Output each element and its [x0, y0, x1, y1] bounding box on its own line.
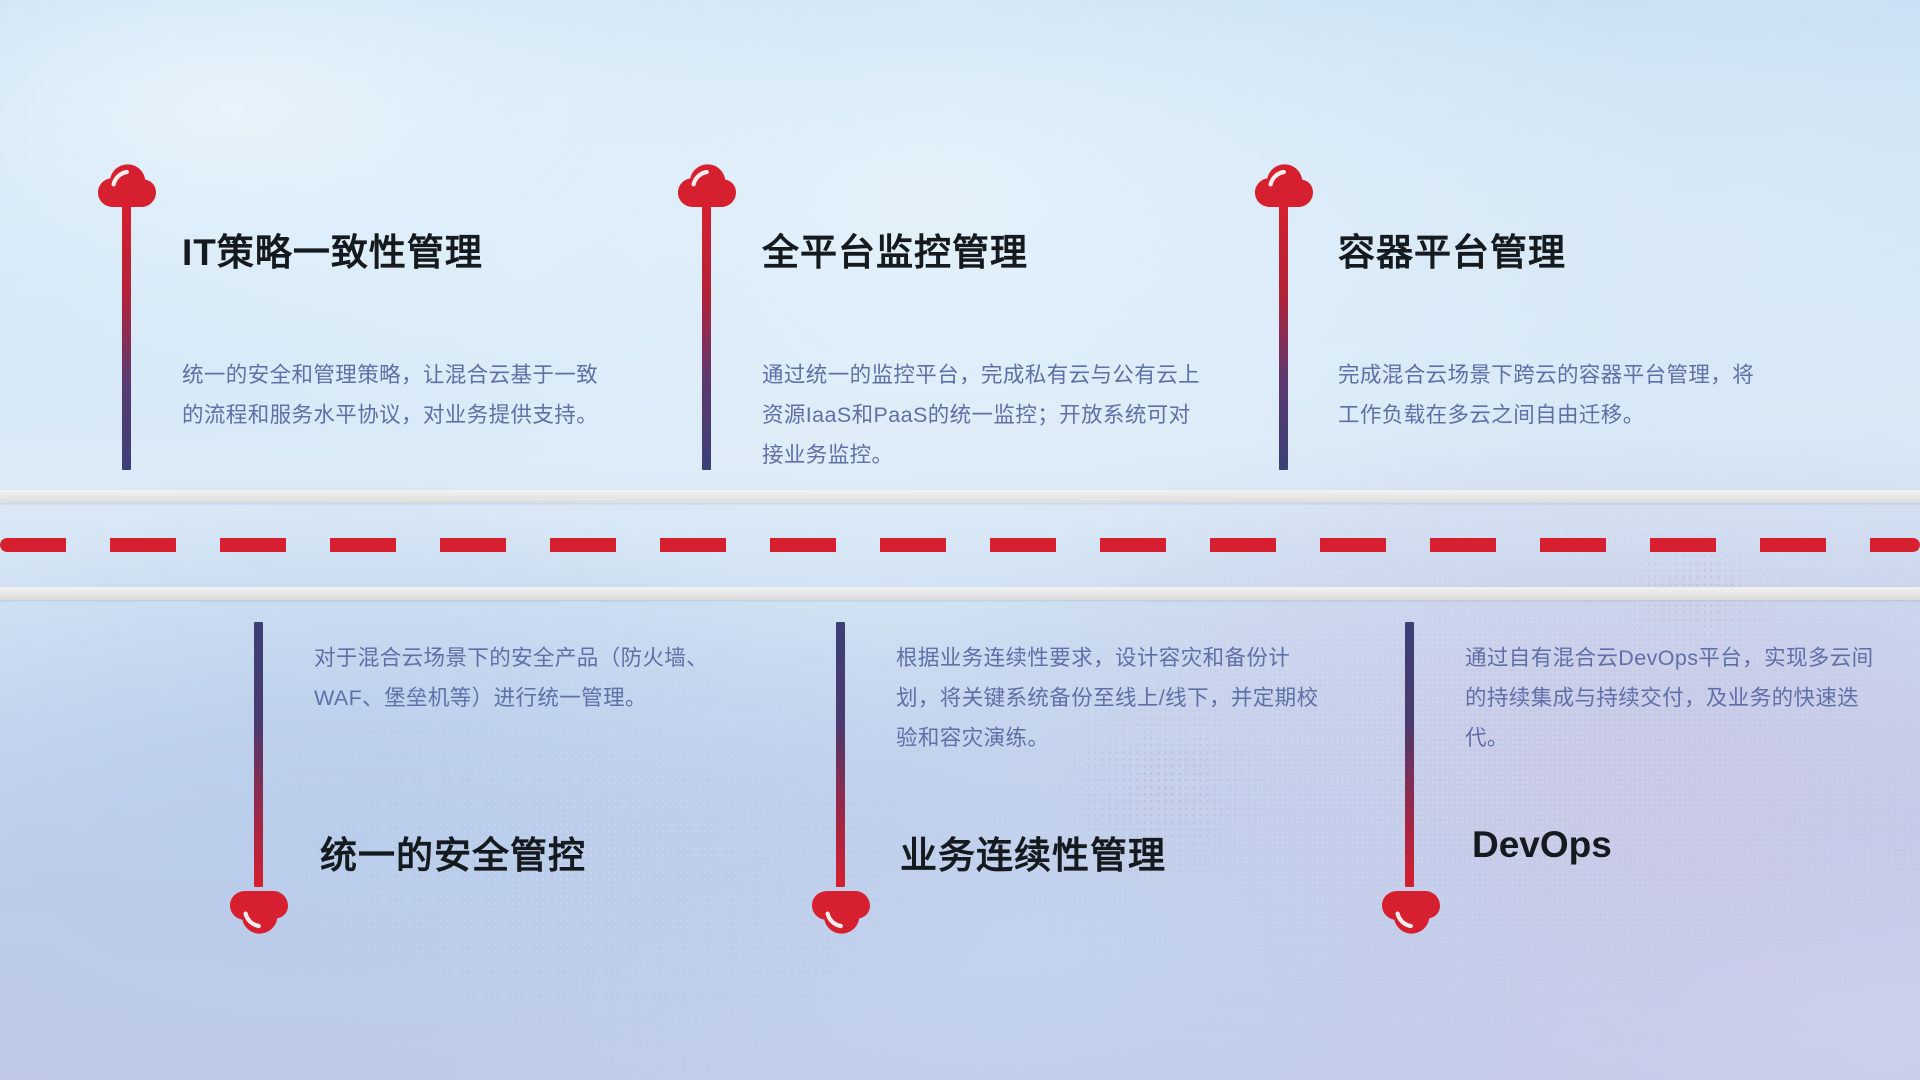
top-column-1-heading: IT策略一致性管理	[182, 222, 483, 276]
road-edge-line-top	[0, 490, 1920, 503]
connector-stem	[836, 622, 845, 887]
cloud-icon	[96, 160, 158, 208]
connector-stem	[254, 622, 263, 887]
road-dashed-centerline	[0, 538, 1920, 552]
connector-stem	[1405, 622, 1414, 887]
top-column-3-heading: 容器平台管理	[1338, 222, 1566, 276]
bottom-column-2-heading: 业务连续性管理	[900, 825, 1166, 879]
bottom-column-3-body: 通过自有混合云DevOps平台，实现多云间的持续集成与持续交付，及业务的快速迭代…	[1465, 638, 1885, 758]
bottom-column-1-body: 对于混合云场景下的安全产品（防火墙、WAF、堡垒机等）进行统一管理。	[314, 638, 744, 718]
connector-stem	[122, 205, 131, 470]
cloud-icon	[810, 890, 872, 938]
cloud-icon	[1380, 890, 1442, 938]
road-edge-line-bottom	[0, 587, 1920, 600]
top-column-2-body: 通过统一的监控平台，完成私有云与公有云上资源IaaS和PaaS的统一监控；开放系…	[762, 355, 1202, 475]
connector-stem	[1279, 205, 1288, 470]
connector-stem	[702, 205, 711, 470]
bottom-column-1-heading: 统一的安全管控	[320, 825, 586, 879]
top-column-2-heading: 全平台监控管理	[762, 222, 1028, 276]
top-column-1-body: 统一的安全和管理策略，让混合云基于一致的流程和服务水平协议，对业务提供支持。	[182, 355, 612, 435]
cloud-icon	[228, 890, 290, 938]
cloud-icon	[676, 160, 738, 208]
bottom-column-2-body: 根据业务连续性要求，设计容灾和备份计划，将关键系统备份至线上/线下，并定期校验和…	[896, 638, 1326, 758]
top-column-3-body: 完成混合云场景下跨云的容器平台管理，将工作负载在多云之间自由迁移。	[1338, 355, 1768, 435]
road-divider	[0, 490, 1920, 600]
cloud-icon	[1253, 160, 1315, 208]
bottom-column-3-heading: DevOps	[1472, 824, 1612, 866]
